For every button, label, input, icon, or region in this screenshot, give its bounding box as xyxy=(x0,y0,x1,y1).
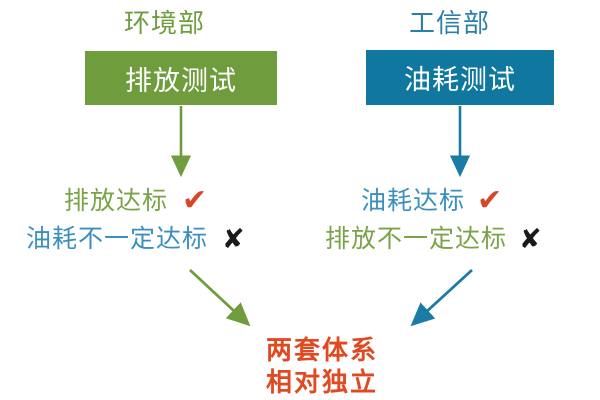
result-row: 油耗不一定达标 ✘ xyxy=(26,220,245,258)
check-icon: ✔ xyxy=(477,186,502,216)
conclusion-text: 两套体系 相对独立 xyxy=(232,334,412,398)
conclusion-line-2: 相对独立 xyxy=(232,366,412,398)
arrow-left-result-to-conclusion xyxy=(190,270,248,324)
check-icon: ✔ xyxy=(182,186,207,216)
department-label-environment: 环境部 xyxy=(124,10,205,36)
result-emission-uncertain: 排放不一定达标 xyxy=(325,227,507,252)
emission-test-box: 排放测试 xyxy=(85,51,277,105)
conclusion-line-1: 两套体系 xyxy=(232,334,412,366)
arrow-right-result-to-conclusion xyxy=(413,270,472,324)
regulation-flow-diagram: 环境部 工信部 排放测试 油耗测试 排放达标 ✔ 油耗不一定达标 ✘ 油耗达标 … xyxy=(0,0,600,400)
left-branch-results: 排放达标 ✔ 油耗不一定达标 ✘ xyxy=(26,182,245,258)
right-branch-results: 油耗达标 ✔ 排放不一定达标 ✘ xyxy=(325,182,542,258)
result-emission-pass: 排放达标 xyxy=(64,189,168,214)
result-row: 油耗达标 ✔ xyxy=(325,182,542,220)
result-fuel-uncertain: 油耗不一定达标 xyxy=(26,227,208,252)
fuel-consumption-test-box: 油耗测试 xyxy=(366,50,554,105)
result-row: 排放不一定达标 ✘ xyxy=(325,220,542,258)
department-label-miit: 工信部 xyxy=(409,10,490,36)
cross-icon: ✘ xyxy=(222,226,245,253)
result-row: 排放达标 ✔ xyxy=(26,182,245,220)
cross-icon: ✘ xyxy=(519,226,542,253)
result-fuel-pass: 油耗达标 xyxy=(361,189,465,214)
